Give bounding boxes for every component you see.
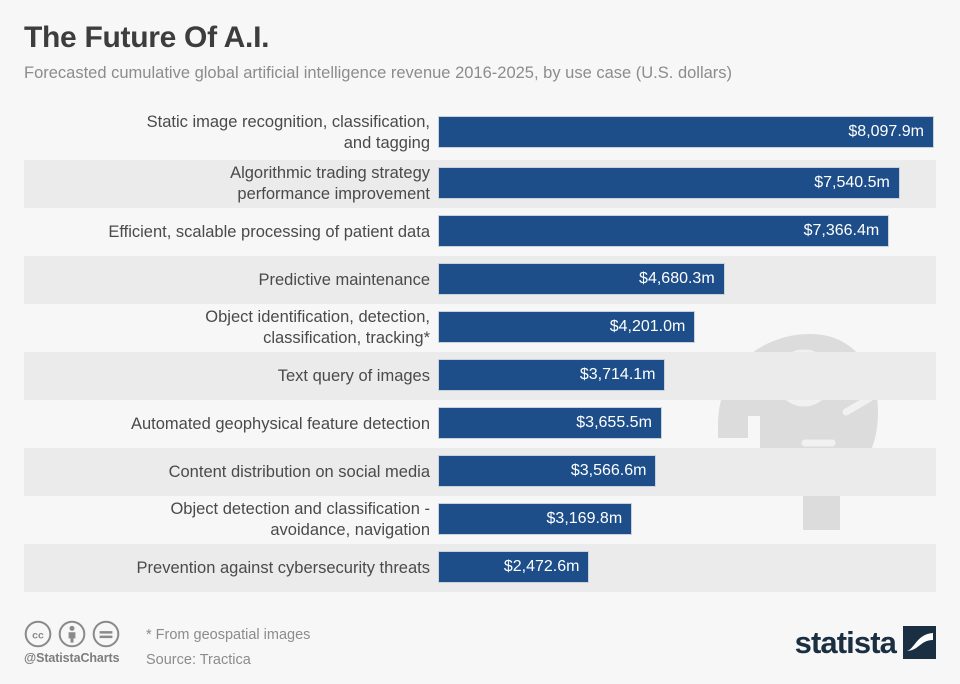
bar[interactable]: $2,472.6m	[438, 551, 589, 583]
bar-row-inner: Object detection and classification - av…	[24, 499, 936, 541]
bar-category-label: Object detection and classification - av…	[24, 499, 438, 541]
table-row: Text query of images$3,714.1m	[0, 352, 960, 400]
table-row: Prevention against cybersecurity threats…	[0, 544, 960, 592]
bar-value-label: $3,169.8m	[547, 511, 623, 527]
cc-nd-equals-icon	[92, 620, 120, 648]
bar-track: $3,169.8m	[438, 503, 936, 537]
table-row: Content distribution on social media$3,5…	[0, 448, 960, 496]
cc-icon-group: cc	[24, 620, 120, 648]
bar-category-label: Static image recognition, classification…	[24, 112, 438, 154]
bar-row-inner: Content distribution on social media$3,5…	[24, 455, 936, 489]
bar-category-label: Text query of images	[24, 366, 438, 387]
bar-row-inner: Prevention against cybersecurity threats…	[24, 551, 936, 585]
statista-infographic: The Future Of A.I. Forecasted cumulative…	[0, 0, 960, 684]
cc-by-person-icon	[58, 620, 86, 648]
bar-value-label: $7,540.5m	[814, 175, 890, 191]
bar-category-label: Content distribution on social media	[24, 462, 438, 483]
bar[interactable]: $4,201.0m	[438, 311, 695, 343]
table-row: Efficient, scalable processing of patien…	[0, 208, 960, 256]
notes-block: * From geospatial images Source: Tractic…	[146, 623, 310, 673]
bar-category-label: Predictive maintenance	[24, 270, 438, 291]
source-line: Source: Tractica	[146, 648, 310, 673]
footer: cc @StatistaCharts * From geospatial ima…	[0, 604, 960, 684]
bar-category-label: Automated geophysical feature detection	[24, 414, 438, 435]
statista-logo[interactable]: statista	[795, 626, 936, 659]
bar[interactable]: $3,655.5m	[438, 407, 662, 439]
bar[interactable]: $3,169.8m	[438, 503, 632, 535]
table-row: Object identification, detection, classi…	[0, 304, 960, 352]
bar-row-inner: Static image recognition, classification…	[24, 112, 936, 154]
bar-track: $3,714.1m	[438, 359, 936, 393]
bar-row-inner: Automated geophysical feature detection$…	[24, 407, 936, 441]
bar-track: $7,366.4m	[438, 215, 936, 249]
bar-value-label: $3,655.5m	[576, 415, 652, 431]
bar-track: $4,680.3m	[438, 263, 936, 297]
statista-wordmark: statista	[795, 627, 896, 658]
chart-subtitle: Forecasted cumulative global artificial …	[24, 61, 944, 85]
bar-track: $8,097.9m	[438, 116, 936, 150]
bar[interactable]: $7,540.5m	[438, 167, 900, 199]
bar-track: $4,201.0m	[438, 311, 936, 345]
bar[interactable]: $4,680.3m	[438, 263, 725, 295]
bar-row-inner: Text query of images$3,714.1m	[24, 359, 936, 393]
table-row: Algorithmic trading strategy performance…	[0, 160, 960, 208]
table-row: Object detection and classification - av…	[0, 496, 960, 544]
bar[interactable]: $3,566.6m	[438, 455, 656, 487]
bar-value-label: $3,566.6m	[571, 463, 647, 479]
bar-track: $3,566.6m	[438, 455, 936, 489]
bar-value-label: $7,366.4m	[804, 223, 880, 239]
footnote: * From geospatial images	[146, 623, 310, 648]
table-row: Static image recognition, classification…	[0, 105, 960, 160]
bar-value-label: $4,201.0m	[610, 319, 686, 335]
statista-charts-handle: @StatistaCharts	[24, 651, 120, 665]
bar-row-inner: Object identification, detection, classi…	[24, 307, 936, 349]
table-row: Automated geophysical feature detection$…	[0, 400, 960, 448]
bar-category-label: Algorithmic trading strategy performance…	[24, 163, 438, 205]
page-title: The Future Of A.I.	[24, 18, 944, 58]
bar-row-inner: Efficient, scalable processing of patien…	[24, 215, 936, 249]
bar-value-label: $4,680.3m	[639, 271, 715, 287]
bar-value-label: $2,472.6m	[504, 559, 580, 575]
bar-track: $2,472.6m	[438, 551, 936, 585]
bar-row-inner: Algorithmic trading strategy performance…	[24, 163, 936, 205]
bar[interactable]: $7,366.4m	[438, 215, 889, 247]
bar-row-inner: Predictive maintenance$4,680.3m	[24, 263, 936, 297]
bar-category-label: Efficient, scalable processing of patien…	[24, 222, 438, 243]
bar-track: $3,655.5m	[438, 407, 936, 441]
bar-track: $7,540.5m	[438, 167, 936, 201]
creative-commons-block: cc @StatistaCharts	[24, 620, 120, 665]
bar-value-label: $8,097.9m	[848, 124, 924, 140]
bar-category-label: Object identification, detection, classi…	[24, 307, 438, 349]
bar[interactable]: $3,714.1m	[438, 359, 665, 391]
bar-chart: Static image recognition, classification…	[0, 105, 960, 592]
table-row: Predictive maintenance$4,680.3m	[0, 256, 960, 304]
bar-category-label: Prevention against cybersecurity threats	[24, 558, 438, 579]
svg-text:cc: cc	[32, 629, 44, 641]
bar-value-label: $3,714.1m	[580, 367, 656, 383]
header: The Future Of A.I. Forecasted cumulative…	[24, 18, 944, 85]
statista-mark-icon	[903, 626, 936, 659]
bar[interactable]: $8,097.9m	[438, 116, 934, 148]
creative-commons-icon: cc	[24, 620, 52, 648]
